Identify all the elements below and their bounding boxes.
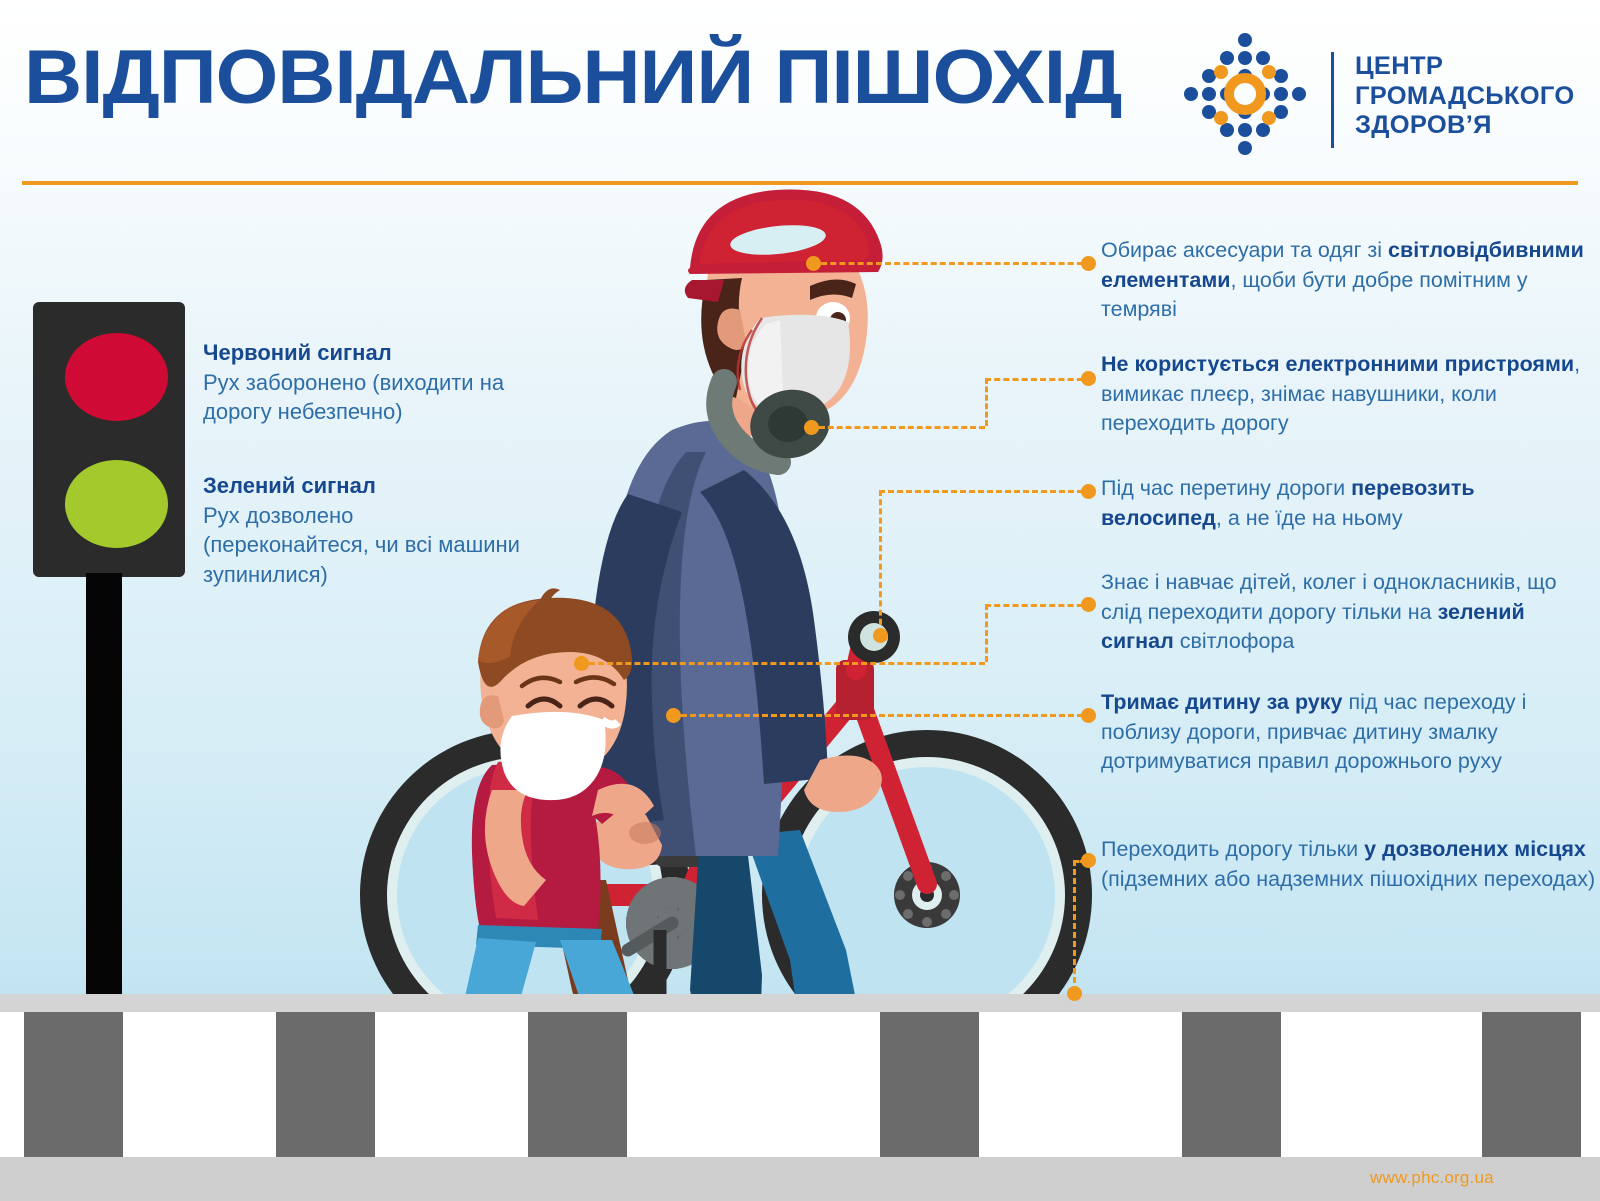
connector-dot-handlebar [873,628,888,643]
connector-line-bike-h [879,490,1092,493]
crosswalk-stripe [276,1012,375,1157]
connector-dot-crosswalk [1067,986,1082,1001]
tip-no-electronic-devices: Не користується електронними пристроями,… [1101,350,1600,439]
connector-dot-tip-hold-hand [1081,708,1096,723]
connector-dot-child-head [574,656,589,671]
connector-line-crossing-v [1073,860,1076,992]
connector-dot-tip-places [1081,853,1096,868]
curb-upper [0,994,1600,1012]
connector-line-headphones-v [985,378,988,426]
tip-allowed-crossings: Переходить дорогу тільки у дозволених мі… [1101,835,1600,894]
curb-lower [0,1157,1600,1201]
tip-walk-the-bike: Під час перетину дороги перевозить велос… [1101,474,1600,533]
connector-line-child-h [580,662,985,665]
connector-dot-joined-hands [666,708,681,723]
crosswalk-stripe [1482,1012,1581,1157]
tip-reflective-elements: Обирає аксесуари та одяг зі світловідбив… [1101,236,1600,325]
connector-dot-tip-teach [1081,597,1096,612]
crosswalk-stripe [880,1012,979,1157]
connector-line-bike-v [879,490,882,634]
connector-dot-headphones [804,420,819,435]
connector-line-child-v [985,604,988,662]
connector-dot-tip-devices [1081,371,1096,386]
connector-line-headphones-h [810,426,985,429]
connector-dot-helmet [806,256,821,271]
road-surface [0,1012,1600,1157]
infographic-poster: ВІДПОВІДАЛЬНИЙ ПІШОХІД [0,0,1600,1201]
footer-website-url[interactable]: www.phc.org.ua [1370,1168,1494,1188]
crosswalk-stripe [1182,1012,1281,1157]
connector-line-reflective [812,262,1092,265]
connector-line-child-h2 [985,604,1092,607]
tip-hold-child-hand: Тримає дитину за руку під час переходу і… [1101,688,1600,777]
connector-line-headphones-h2 [985,378,1092,381]
tip-teach-green-signal: Знає і навчає дітей, колег і однокласник… [1101,568,1600,657]
crosswalk-stripe [528,1012,627,1157]
connector-line-hands [672,714,1092,717]
connector-dot-tip-carry-bike [1081,484,1096,499]
connector-dot-tip-reflective [1081,256,1096,271]
crosswalk-stripe [24,1012,123,1157]
